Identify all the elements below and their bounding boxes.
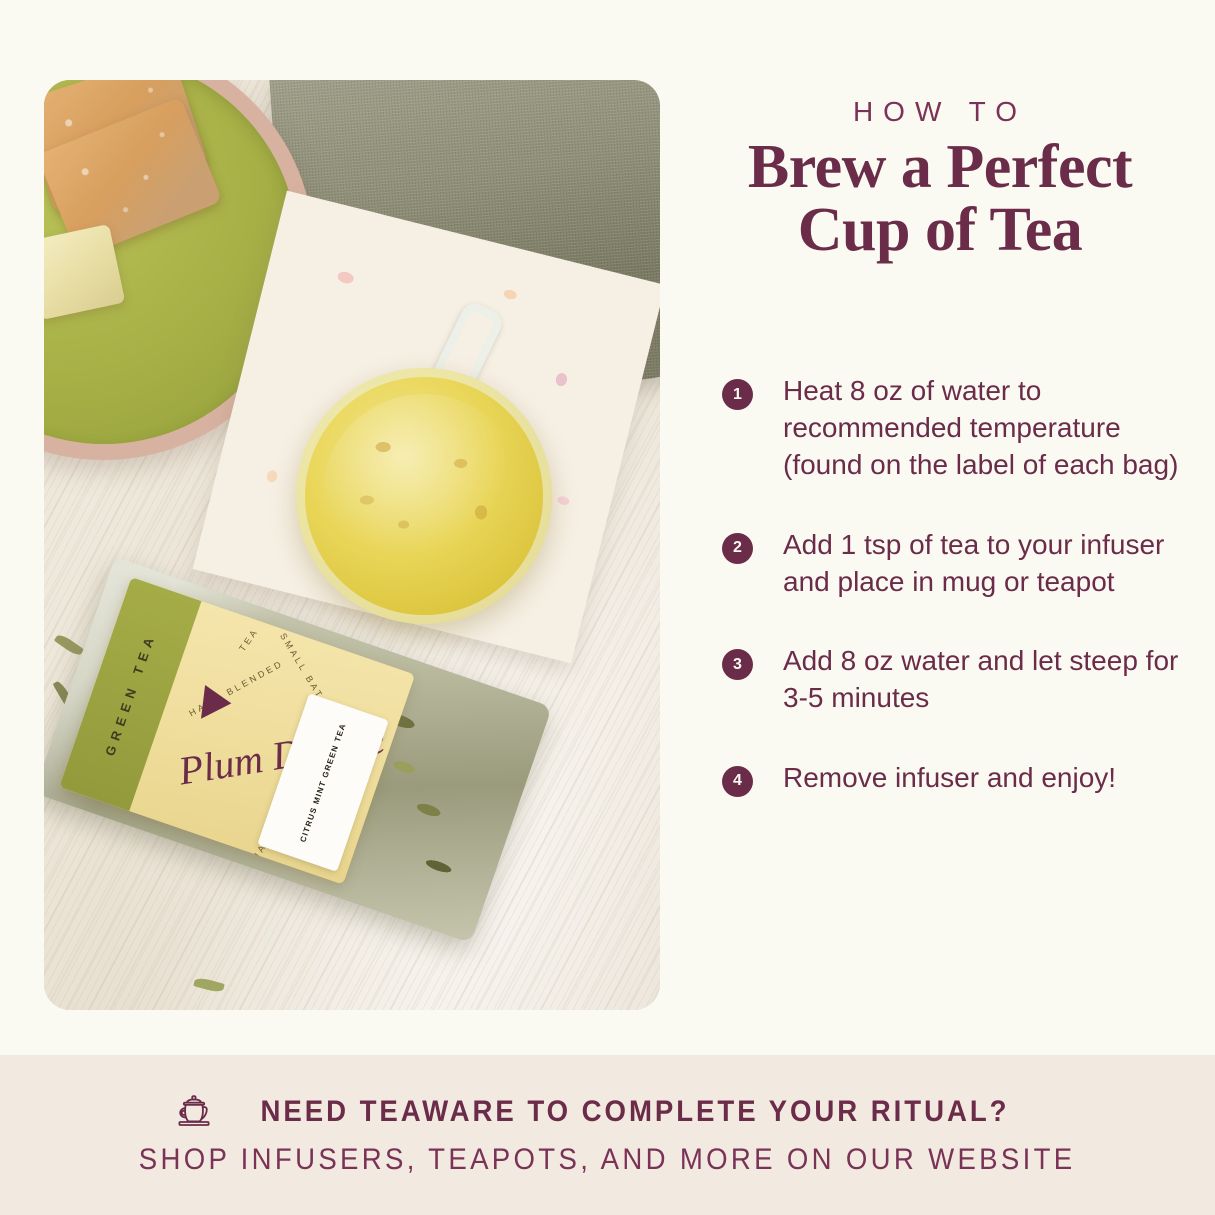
step-text: Heat 8 oz of water to recommended temper… bbox=[783, 372, 1182, 484]
eyebrow-label: HOW TO bbox=[700, 96, 1180, 128]
infographic-page: GREEN TEA TEA HAND BLENDED SMALL BATCH H… bbox=[0, 0, 1215, 1215]
text-column: HOW TO Brew a Perfect Cup of Tea bbox=[700, 96, 1180, 262]
hero-photo: GREEN TEA TEA HAND BLENDED SMALL BATCH H… bbox=[44, 80, 660, 1010]
step-text: Add 1 tsp of tea to your infuser and pla… bbox=[783, 526, 1182, 600]
step-item: 4 Remove infuser and enjoy! bbox=[722, 759, 1182, 797]
footer-top-row: NEED TEAWARE TO COMPLETE YOUR RITUAL? bbox=[174, 1093, 1042, 1131]
page-title-line-1: Brew a Perfect bbox=[748, 133, 1132, 201]
package-arc-tea: TEA bbox=[237, 626, 260, 653]
step-item: 1 Heat 8 oz of water to recommended temp… bbox=[722, 372, 1182, 484]
step-number-badge: 4 bbox=[722, 766, 753, 797]
page-title-line-2: Cup of Tea bbox=[798, 196, 1082, 264]
step-item: 2 Add 1 tsp of tea to your infuser and p… bbox=[722, 526, 1182, 600]
steps-list: 1 Heat 8 oz of water to recommended temp… bbox=[722, 372, 1182, 839]
step-item: 3 Add 8 oz water and let steep for 3-5 m… bbox=[722, 642, 1182, 716]
step-text: Add 8 oz water and let steep for 3-5 min… bbox=[783, 642, 1182, 716]
page-title: Brew a Perfect Cup of Tea bbox=[700, 136, 1180, 262]
footer-banner: NEED TEAWARE TO COMPLETE YOUR RITUAL? SH… bbox=[0, 1055, 1215, 1215]
package-side-banner-text: GREEN TEA bbox=[102, 630, 158, 758]
teapot-icon bbox=[174, 1093, 214, 1131]
step-number-badge: 3 bbox=[722, 649, 753, 680]
glass-tea-cup bbox=[296, 368, 552, 624]
package-label-title: CITRUS MINT GREEN TEA bbox=[298, 722, 347, 844]
photo-scene: GREEN TEA TEA HAND BLENDED SMALL BATCH H… bbox=[44, 80, 660, 1010]
footer-subline: SHOP INFUSERS, TEAPOTS, AND MORE ON OUR … bbox=[139, 1143, 1076, 1177]
step-number-badge: 1 bbox=[722, 379, 753, 410]
step-number-badge: 2 bbox=[722, 533, 753, 564]
step-text: Remove infuser and enjoy! bbox=[783, 759, 1116, 796]
footer-headline: NEED TEAWARE TO COMPLETE YOUR RITUAL? bbox=[260, 1095, 1009, 1129]
